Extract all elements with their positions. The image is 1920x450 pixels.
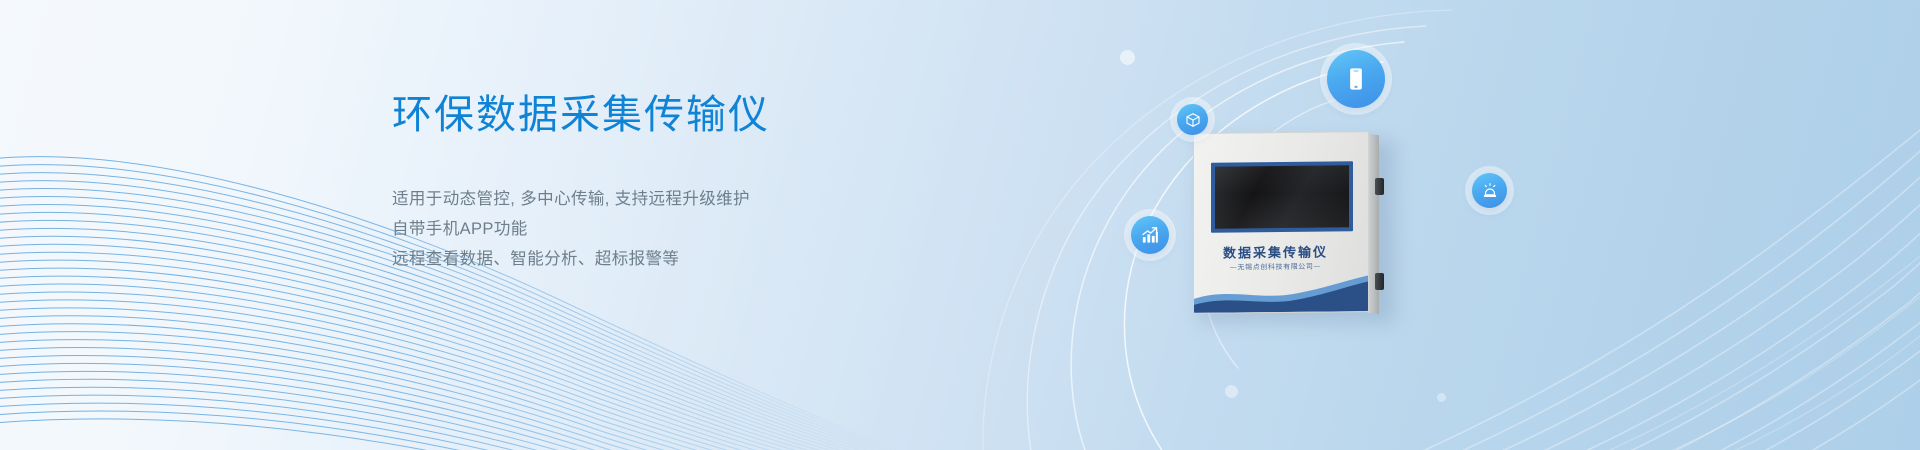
- product-banner: 环保数据采集传输仪 适用于动态管控, 多中心传输, 支持远程升级维护 自带手机A…: [0, 0, 1920, 450]
- banner-subtext-list: 适用于动态管控, 多中心传输, 支持远程升级维护 自带手机APP功能 远程查看数…: [392, 138, 1012, 274]
- badge-device-module: [1177, 104, 1208, 135]
- device-bottom-wave-graphic: [1194, 271, 1369, 313]
- cube-box-icon: [1185, 112, 1201, 128]
- page-title: 环保数据采集传输仪: [392, 92, 1012, 138]
- device-model-label: 数据采集传输仪: [1194, 241, 1357, 262]
- device-screen-bezel: [1211, 161, 1353, 232]
- banner-text-block: 环保数据采集传输仪 适用于动态管控, 多中心传输, 支持远程升级维护 自带手机A…: [392, 92, 1012, 274]
- decorative-dot: [1120, 50, 1135, 65]
- alarm-siren-icon: [1481, 182, 1499, 200]
- badge-over-limit-alarm: [1472, 173, 1507, 208]
- bar-chart-growth-icon: [1140, 225, 1160, 245]
- device-screen: [1215, 165, 1349, 228]
- banner-subtext-line-3: 远程查看数据、智能分析、超标报警等: [392, 244, 1012, 274]
- badge-data-analysis: [1131, 216, 1169, 254]
- badge-mobile-app: [1327, 50, 1385, 108]
- decorative-dot: [1225, 385, 1238, 398]
- decorative-dot: [1437, 393, 1446, 402]
- device-connector-bottom: [1375, 273, 1384, 290]
- device-front-panel: 数据采集传输仪 —无锡点创科技有限公司—: [1193, 131, 1369, 314]
- banner-subtext-line-2: 自带手机APP功能: [392, 214, 1012, 244]
- mobile-phone-icon: [1343, 66, 1369, 92]
- banner-subtext-line-1: 适用于动态管控, 多中心传输, 支持远程升级维护: [392, 184, 1012, 214]
- product-device-image: 数据采集传输仪 —无锡点创科技有限公司—: [1193, 132, 1400, 325]
- device-connector-top: [1375, 178, 1384, 195]
